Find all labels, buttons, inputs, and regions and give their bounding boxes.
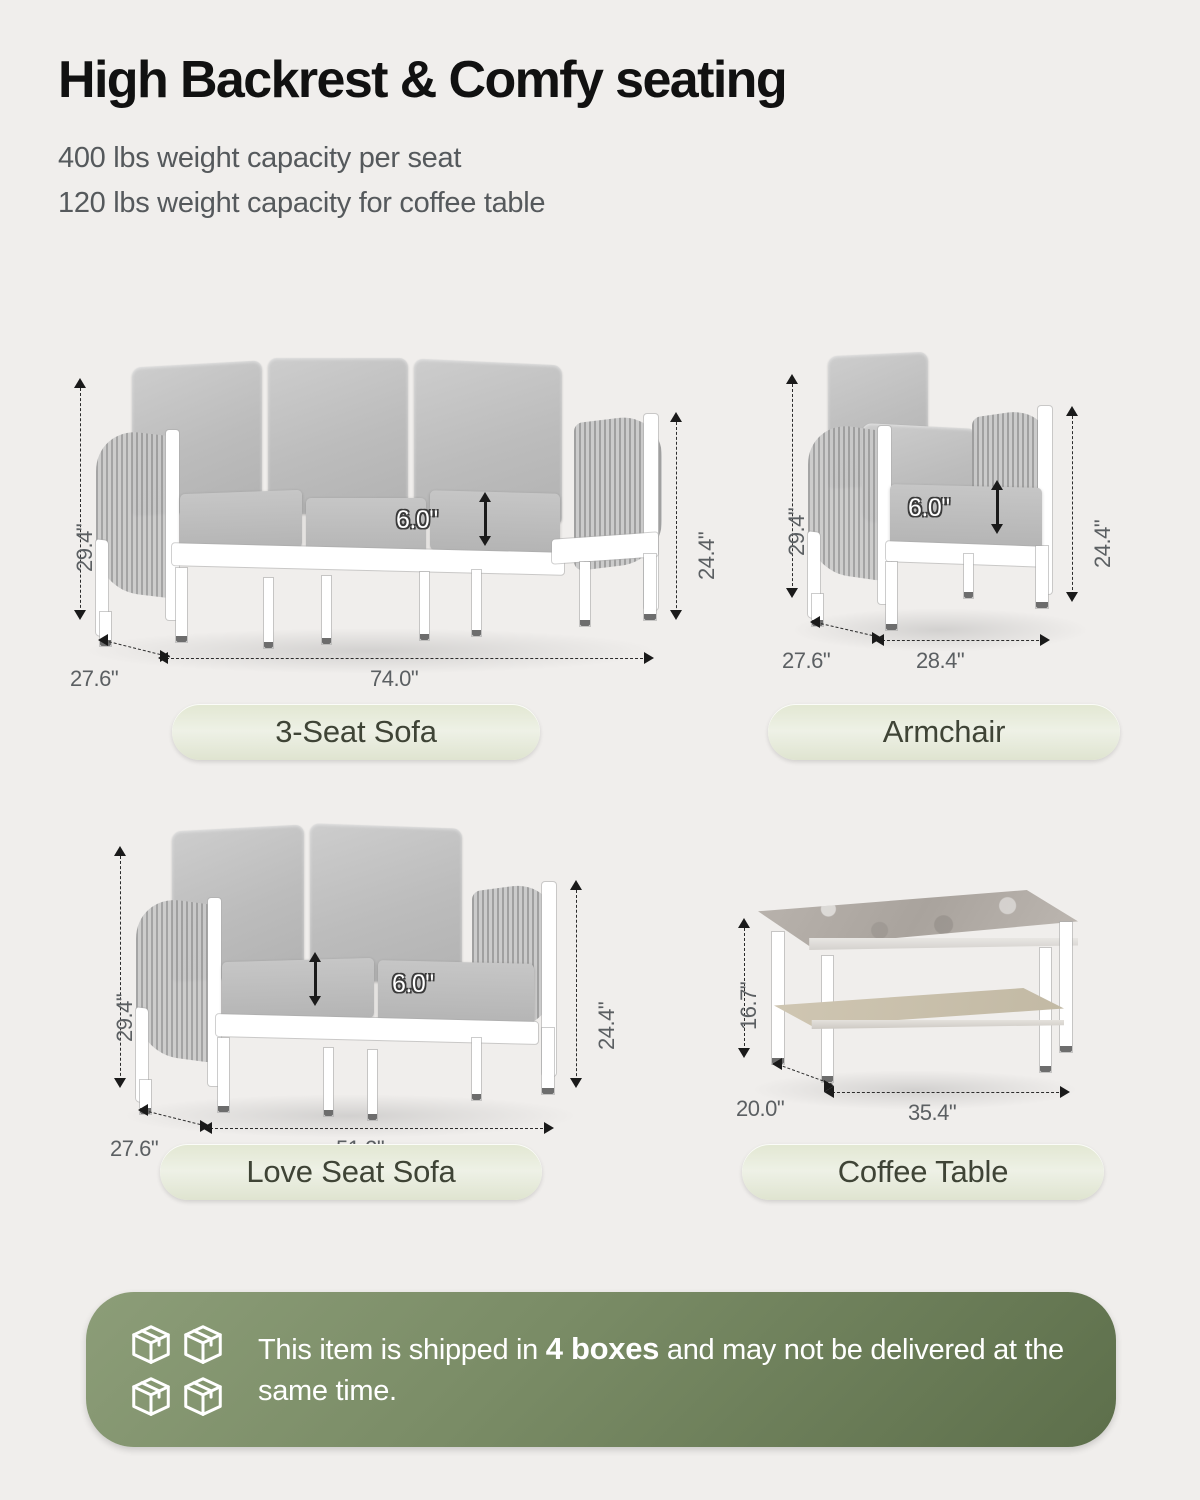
- dimension-loveseat-depth: 27.6": [110, 1136, 158, 1162]
- box-icon: [180, 1373, 226, 1419]
- header: High Backrest & Comfy seating 400 lbs we…: [58, 52, 1158, 226]
- dimension-table-height: 16.7": [736, 982, 762, 1030]
- product-label-armchair[interactable]: Armchair: [768, 704, 1120, 760]
- dimension-sofa-width: 74.0": [370, 666, 418, 692]
- table-top-surface: [758, 890, 1078, 946]
- dimension-sofa-arm-height: 24.4": [694, 532, 720, 580]
- dimension-armchair-depth: 27.6": [782, 648, 830, 674]
- callout-armchair-cushion: 6.0": [908, 494, 950, 523]
- callout-sofa-cushion: 6.0": [396, 506, 438, 535]
- box-icon: [128, 1321, 174, 1367]
- product-label-sofa[interactable]: 3-Seat Sofa: [172, 704, 540, 760]
- box-icon: [128, 1373, 174, 1419]
- shipping-banner-text: This item is shipped in 4 boxes and may …: [258, 1327, 1088, 1412]
- dimension-loveseat-height: 29.4": [112, 994, 138, 1042]
- shipping-box-count: 4 boxes: [546, 1331, 659, 1366]
- product-label-loveseat[interactable]: Love Seat Sofa: [160, 1144, 542, 1200]
- shipping-banner: This item is shipped in 4 boxes and may …: [86, 1292, 1116, 1447]
- box-icon: [180, 1321, 226, 1367]
- product-diagram-armchair: 29.4" 24.4" 28.4" 27.6" 6.0": [750, 340, 1150, 740]
- dimension-loveseat-arm-height: 24.4": [594, 1002, 620, 1050]
- callout-loveseat-cushion: 6.0": [392, 970, 434, 999]
- dimension-table-width: 35.4": [908, 1100, 956, 1126]
- subtitle-weight-capacity-seat: 400 lbs weight capacity per seat: [58, 136, 1158, 181]
- product-diagram-grid: 29.4" 24.4" 74.0" 27.6" 6.0": [0, 330, 1200, 1250]
- product-label-coffee-table[interactable]: Coffee Table: [742, 1144, 1104, 1200]
- dimension-armchair-height: 29.4": [784, 508, 810, 556]
- product-diagram-sofa: 29.4" 24.4" 74.0" 27.6" 6.0": [40, 340, 700, 740]
- page-title: High Backrest & Comfy seating: [58, 52, 1158, 108]
- dimension-sofa-depth: 27.6": [70, 666, 118, 692]
- dimension-armchair-width: 28.4": [916, 648, 964, 674]
- subtitle-weight-capacity-table: 120 lbs weight capacity for coffee table: [58, 181, 1158, 226]
- shipping-text-before: This item is shipped in: [258, 1334, 546, 1366]
- subtitle-block: 400 lbs weight capacity per seat 120 lbs…: [58, 136, 1158, 226]
- dimension-table-depth: 20.0": [736, 1096, 784, 1122]
- dimension-sofa-height: 29.4": [72, 524, 98, 572]
- dimension-armchair-arm-height: 24.4": [1090, 520, 1116, 568]
- box-icon-group: [128, 1321, 226, 1419]
